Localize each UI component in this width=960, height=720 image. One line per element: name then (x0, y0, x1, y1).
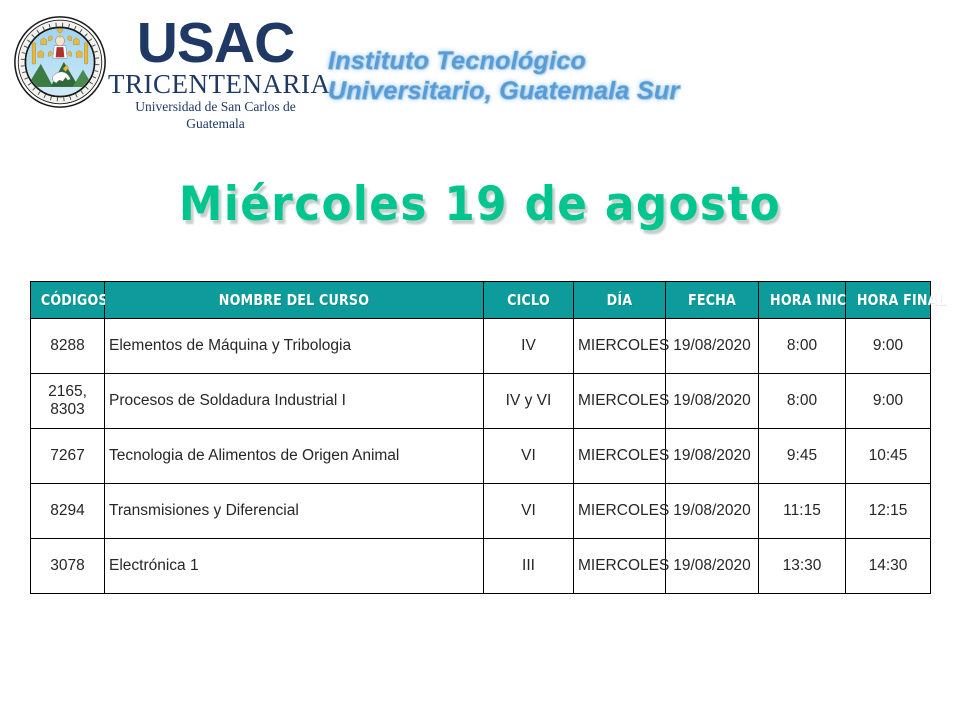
brand-header: USAC TRICENTENARIA Universidad de San Ca… (0, 0, 960, 125)
column-header-dia-label: DÍA (585, 291, 653, 309)
schedule-table-body: 8288 Elementos de Máquina y Tribologia I… (31, 319, 931, 594)
cell-nombre-del-curso: Electrónica 1 (105, 539, 484, 594)
column-header-codigos: CÓDIGOS (31, 282, 105, 319)
column-header-fecha-label: FECHA (678, 291, 747, 309)
cell-hora-inicio: 13:30 (759, 539, 846, 594)
cell-codigos: 7267 (31, 429, 105, 484)
column-header-hora-inicio: HORA INICIO (759, 282, 846, 319)
cell-ciclo: III (484, 539, 574, 594)
cell-hora-final: 9:00 (846, 374, 931, 429)
cell-fecha: 19/08/2020 (666, 429, 759, 484)
usac-wordmark-tricentenaria: TRICENTENARIA (108, 70, 323, 98)
cell-ciclo: IV (484, 319, 574, 374)
cell-hora-final: 9:00 (846, 319, 931, 374)
table-row: 8294 Transmisiones y Diferencial VI MIER… (31, 484, 931, 539)
cell-dia: MIERCOLES (574, 319, 666, 374)
cell-nombre-del-curso: Procesos de Soldadura Industrial I (105, 374, 484, 429)
cell-hora-inicio: 8:00 (759, 374, 846, 429)
cell-codigos: 3078 (31, 539, 105, 594)
usac-wordmark-main: USAC (108, 16, 323, 70)
cell-codigos-text: 8288 (50, 337, 84, 354)
column-header-hora-final-label: HORA FINAL (857, 291, 919, 309)
schedule-table: CÓDIGOS NOMBRE DEL CURSO CICLO DÍA FECHA… (30, 281, 931, 594)
cell-ciclo: VI (484, 484, 574, 539)
column-header-ciclo-label: CICLO (495, 291, 561, 309)
day-title: Miércoles 19 de agosto (34, 178, 927, 232)
cell-dia: MIERCOLES (574, 374, 666, 429)
table-header-row: CÓDIGOS NOMBRE DEL CURSO CICLO DÍA FECHA… (31, 282, 931, 319)
column-header-fecha: FECHA (666, 282, 759, 319)
table-row: 2165,8303 Procesos de Soldadura Industri… (31, 374, 931, 429)
cell-hora-final: 12:15 (846, 484, 931, 539)
cell-codigos-text: 8294 (50, 502, 84, 519)
column-header-hora-final: HORA FINAL (846, 282, 931, 319)
cell-ciclo: VI (484, 429, 574, 484)
cell-codigos-text: 7267 (50, 447, 84, 464)
cell-fecha: 19/08/2020 (666, 374, 759, 429)
column-header-nombre-del-curso: NOMBRE DEL CURSO (105, 282, 484, 319)
usac-wordmark-university: Universidad de San Carlos de Guatemala (108, 99, 323, 131)
cell-ciclo: IV y VI (484, 374, 574, 429)
schedule-table-container: CÓDIGOS NOMBRE DEL CURSO CICLO DÍA FECHA… (30, 281, 930, 594)
column-header-ciclo: CICLO (484, 282, 574, 319)
cell-codigos: 8288 (31, 319, 105, 374)
cell-nombre-del-curso: Transmisiones y Diferencial (105, 484, 484, 539)
cell-dia: MIERCOLES (574, 484, 666, 539)
cell-fecha: 19/08/2020 (666, 484, 759, 539)
institute-title: Instituto Tecnológico Universitario, Gua… (328, 47, 680, 106)
cell-hora-final: 10:45 (846, 429, 931, 484)
institute-title-line1: Instituto Tecnológico (328, 47, 680, 77)
cell-fecha: 19/08/2020 (666, 319, 759, 374)
cell-codigos: 2165,8303 (31, 374, 105, 429)
table-row: 3078 Electrónica 1 III MIERCOLES 19/08/2… (31, 539, 931, 594)
cell-dia: MIERCOLES (574, 539, 666, 594)
institute-title-line2: Universitario, Guatemala Sur (328, 77, 680, 107)
cell-hora-final: 14:30 (846, 539, 931, 594)
column-header-hora-inicio-label: HORA INICIO (770, 291, 834, 309)
cell-hora-inicio: 11:15 (759, 484, 846, 539)
cell-dia: MIERCOLES (574, 429, 666, 484)
table-row: 8288 Elementos de Máquina y Tribologia I… (31, 319, 931, 374)
cell-hora-inicio: 9:45 (759, 429, 846, 484)
cell-fecha: 19/08/2020 (666, 539, 759, 594)
schedule-table-head: CÓDIGOS NOMBRE DEL CURSO CICLO DÍA FECHA… (31, 282, 931, 319)
usac-seal-icon (12, 14, 108, 110)
cell-hora-inicio: 8:00 (759, 319, 846, 374)
table-row: 7267 Tecnologia de Alimentos de Origen A… (31, 429, 931, 484)
usac-wordmark: USAC TRICENTENARIA Universidad de San Ca… (108, 16, 323, 132)
cell-codigos: 8294 (31, 484, 105, 539)
column-header-codigos-label: CÓDIGOS (41, 291, 94, 309)
cell-nombre-del-curso: Elementos de Máquina y Tribologia (105, 319, 484, 374)
cell-codigos-text: 3078 (50, 557, 84, 574)
cell-nombre-del-curso: Tecnologia de Alimentos de Origen Animal (105, 429, 484, 484)
column-header-dia: DÍA (574, 282, 666, 319)
cell-codigos-text: 2165,8303 (35, 383, 100, 420)
column-header-nombre-del-curso-label: NOMBRE DEL CURSO (142, 291, 445, 309)
